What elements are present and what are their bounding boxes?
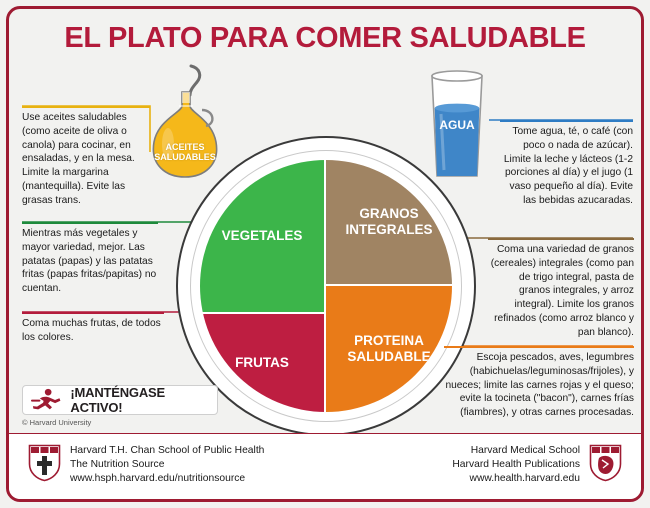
- footer-hms: Harvard Medical School Harvard Health Pu…: [452, 444, 622, 487]
- callout-water: Tome agua, té, o café (con poco o nada d…: [500, 120, 633, 208]
- stay-active-label: ¡MANTÉNGASE ACTIVO!: [70, 385, 217, 415]
- water-glass-label: AGUA: [424, 118, 490, 132]
- oil-bottle-label: ACEITES SALUDABLES: [146, 142, 224, 163]
- protein-line-1: PROTEINA: [354, 333, 424, 348]
- callout-healthy-protein: Escoja pescados, aves, legumbres (habich…: [444, 346, 634, 420]
- oil-label-line-1: ACEITES: [165, 142, 204, 152]
- stay-active-badge[interactable]: ¡MANTÉNGASE ACTIVO!: [22, 385, 218, 415]
- callout-text-oils: Use aceites saludables (como aceite de o…: [22, 111, 150, 207]
- plate-segment-grains-label: GRANOS INTEGRALES: [345, 206, 432, 238]
- plate-segment-protein[interactable]: PROTEINA SALUDABLE: [326, 286, 452, 412]
- footer-hms-line-1: Harvard Medical School: [452, 444, 580, 458]
- footer-hsph-lines: Harvard T.H. Chan School of Public Healt…: [70, 444, 264, 487]
- footer-hsph-url[interactable]: www.hsph.harvard.edu/nutritionsource: [70, 472, 264, 486]
- callout-text-protein: Escoja pescados, aves, legumbres (habich…: [444, 351, 634, 420]
- harvard-chan-shield-icon: [28, 444, 61, 482]
- plate-segment-fruits-label: FRUTAS: [235, 355, 289, 371]
- page-title: EL PLATO PARA COMER SALUDABLE: [0, 22, 650, 55]
- plate-segments: VEGETALES FRUTAS GRANOS INTEGRALES PROTE…: [200, 160, 452, 412]
- water-glass-icon: AGUA: [424, 66, 490, 182]
- running-person-icon: [31, 388, 62, 412]
- grains-line-2: INTEGRALES: [345, 222, 432, 237]
- grains-line-1: GRANOS: [359, 206, 418, 221]
- callout-rule-vegetables: [22, 222, 158, 224]
- footer-hsph-line-1: Harvard T.H. Chan School of Public Healt…: [70, 444, 264, 458]
- copyright-notice: © Harvard University: [22, 418, 91, 427]
- plate-segment-vegetables[interactable]: VEGETALES: [200, 160, 324, 312]
- footer-hms-url[interactable]: www.health.harvard.edu: [452, 472, 580, 486]
- callout-whole-grains: Coma una variedad de granos (cereales) i…: [488, 238, 634, 339]
- callout-text-water: Tome agua, té, o café (con poco o nada d…: [500, 125, 633, 208]
- callout-text-vegetables: Mientras más vegetales y mayor variedad,…: [22, 227, 158, 296]
- plate-segment-vegetables-label: VEGETALES: [222, 228, 303, 244]
- footer-hsph-line-2: The Nutrition Source: [70, 458, 264, 472]
- callout-rule-water: [500, 120, 633, 122]
- callout-fruits: Coma muchas frutas, de todos los colores…: [22, 312, 164, 345]
- callout-healthy-oils: Use aceites saludables (como aceite de o…: [22, 106, 150, 207]
- callout-rule-oils: [22, 106, 150, 108]
- callout-vegetables: Mientras más vegetales y mayor variedad,…: [22, 222, 158, 296]
- callout-text-fruits: Coma muchas frutas, de todos los colores…: [22, 317, 164, 345]
- oil-label-line-2: SALUDABLES: [154, 152, 216, 162]
- footer-hsph: Harvard T.H. Chan School of Public Healt…: [28, 444, 264, 487]
- harvard-medical-shield-icon: [589, 444, 622, 482]
- callout-text-grains: Coma una variedad de granos (cereales) i…: [488, 243, 634, 339]
- callout-rule-grains: [488, 238, 634, 240]
- plate-segment-fruits[interactable]: FRUTAS: [200, 314, 324, 412]
- plate-segment-protein-label: PROTEINA SALUDABLE: [347, 333, 430, 365]
- oil-bottle-icon: ACEITES SALUDABLES: [146, 62, 224, 180]
- protein-line-2: SALUDABLE: [347, 349, 430, 364]
- callout-rule-protein: [444, 346, 634, 348]
- footer-hms-line-2: Harvard Health Publications: [452, 458, 580, 472]
- footer-hms-lines: Harvard Medical School Harvard Health Pu…: [452, 444, 580, 487]
- callout-rule-fruits: [22, 312, 164, 314]
- healthy-eating-plate-poster: EL PLATO PARA COMER SALUDABLE VEGETALES …: [0, 0, 650, 508]
